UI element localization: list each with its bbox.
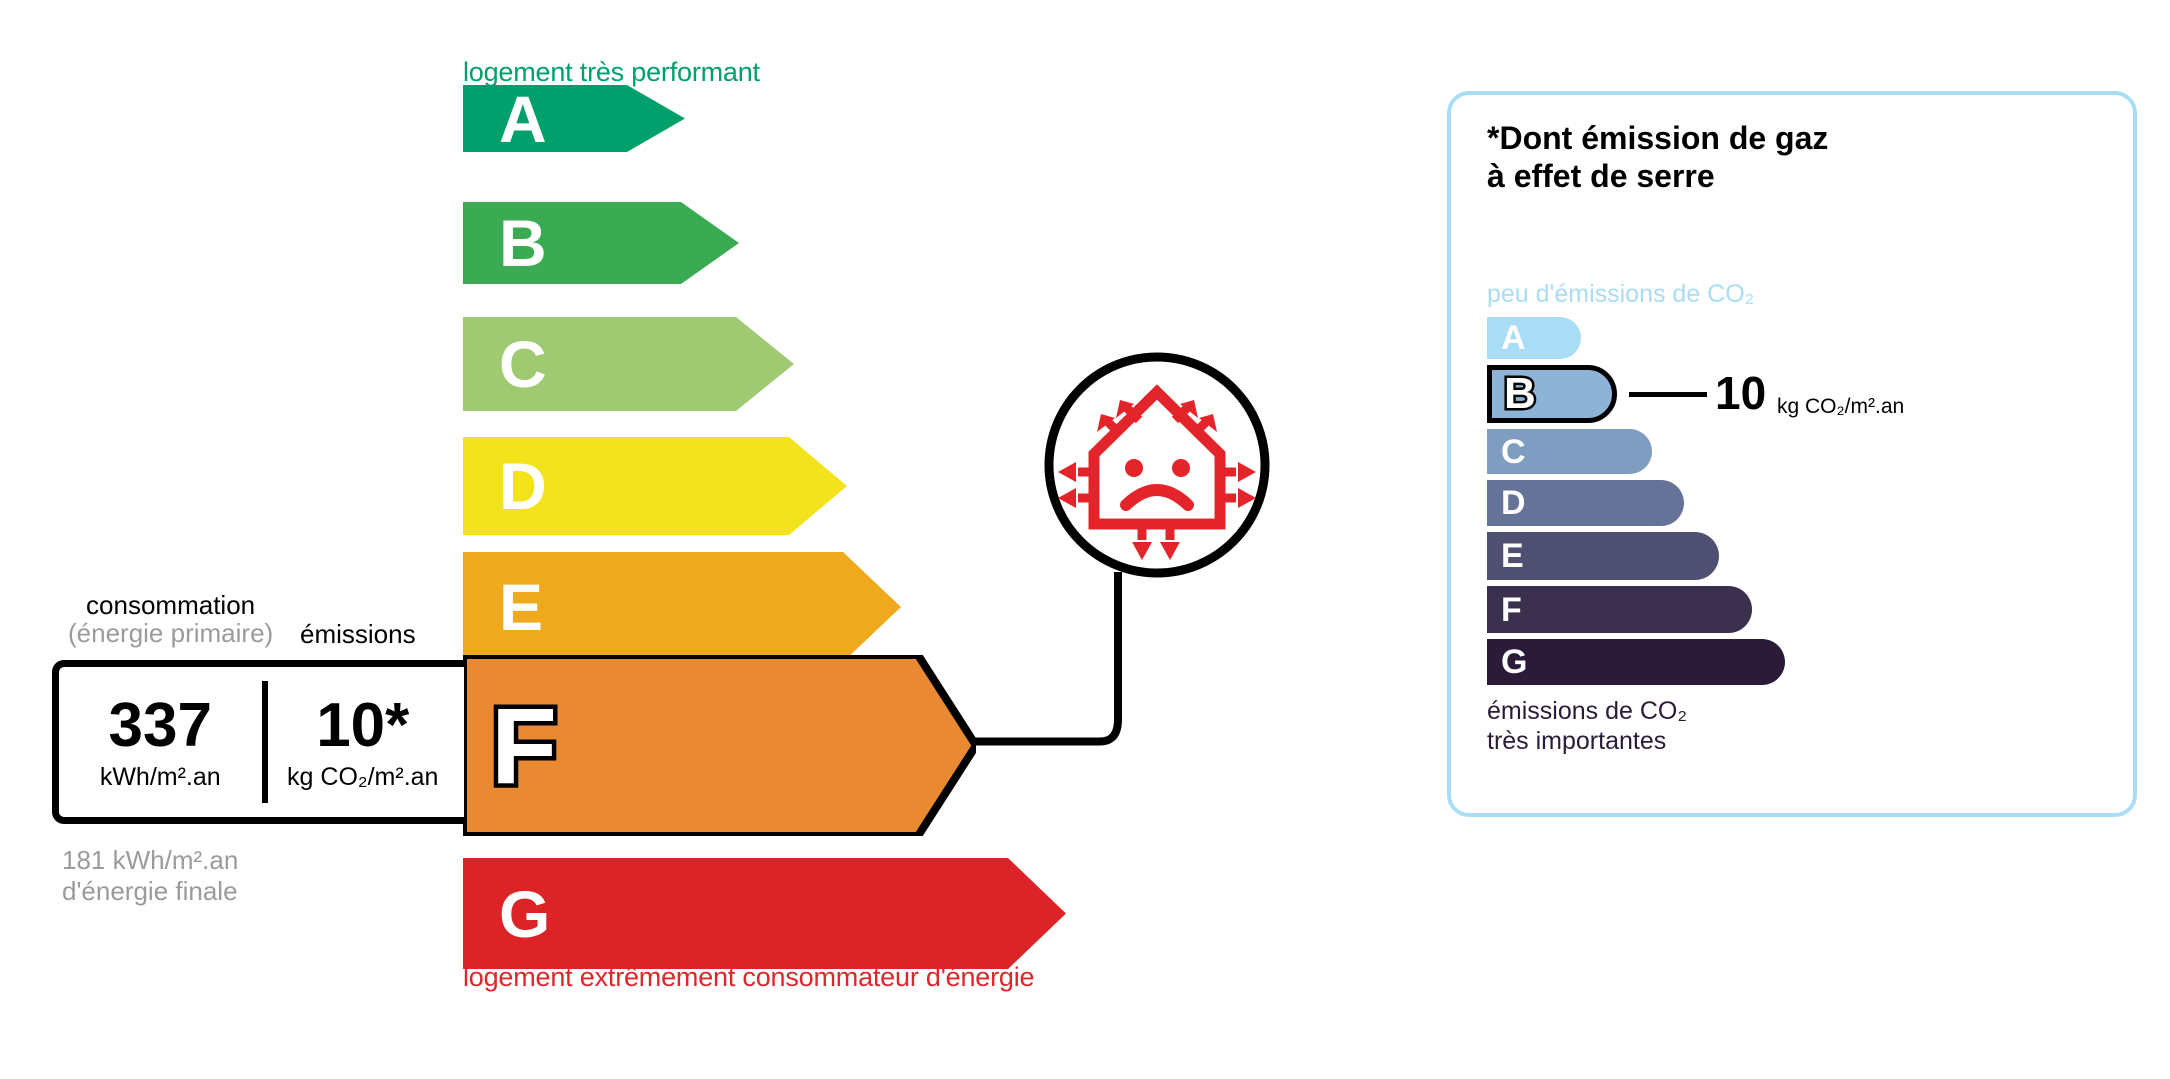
co2-band-row-b-selected[interactable]: B — [1487, 365, 1617, 423]
co2-value: 10 — [1715, 370, 1766, 416]
final-energy-value: 181 kWh/m².an — [62, 845, 238, 875]
energy-band-e-shape — [463, 552, 901, 662]
co2-band-row-d[interactable]: D — [1487, 480, 1684, 526]
co2-bottom-caption-line1: émissions de CO₂ — [1487, 697, 1687, 725]
consumption-value-cell: 337 kWh/m².an — [59, 667, 262, 817]
co2-title-line2: à effet de serre — [1487, 158, 1715, 194]
energy-band-row-f-selected[interactable]: F — [463, 655, 976, 836]
consumption-header-group: consommation (énergie primaire) — [68, 591, 273, 647]
energy-band-b-shape — [463, 202, 739, 284]
co2-value-unit: kg CO₂/m².an — [1777, 396, 1904, 417]
energy-band-row-a[interactable]: A — [463, 85, 685, 152]
consumption-header: consommation — [86, 590, 255, 620]
co2-value-connector-line — [1629, 392, 1707, 397]
co2-band-f-shape: F — [1487, 586, 1752, 633]
co2-band-row-g[interactable]: G — [1487, 639, 1785, 685]
emissions-unit: kg CO₂/m².an — [287, 765, 438, 790]
co2-band-d-letter: D — [1501, 486, 1526, 520]
consumption-unit: kWh/m².an — [100, 765, 221, 790]
consumption-value: 337 — [109, 695, 212, 757]
co2-band-row-a[interactable]: A — [1487, 317, 1581, 359]
emissions-value: 10* — [316, 695, 409, 757]
co2-band-a-shape: A — [1487, 317, 1581, 359]
co2-band-b-letter: B — [1504, 372, 1536, 416]
co2-band-g-shape: G — [1487, 639, 1785, 685]
co2-title-line1: *Dont émission de gaz — [1487, 120, 1828, 156]
co2-band-f-letter: F — [1501, 593, 1522, 627]
emissions-value-cell: 10* kg CO₂/m².an — [262, 667, 465, 817]
co2-band-row-e[interactable]: E — [1487, 532, 1719, 580]
energy-band-row-b[interactable]: B — [463, 202, 739, 284]
co2-bottom-caption: émissions de CO₂ très importantes — [1487, 697, 1687, 756]
co2-band-c-letter: C — [1501, 435, 1526, 469]
badge-connector-line — [972, 572, 1162, 746]
co2-band-d-shape: D — [1487, 480, 1684, 526]
co2-panel: *Dont émission de gaz à effet de serre p… — [1447, 91, 2137, 817]
co2-band-a-letter: A — [1501, 321, 1526, 355]
final-energy-label: d'énergie finale — [62, 876, 238, 906]
co2-band-row-f[interactable]: F — [1487, 586, 1752, 633]
co2-band-g-letter: G — [1501, 645, 1527, 679]
co2-band-b-shape: B — [1487, 365, 1617, 423]
co2-band-c-shape: C — [1487, 429, 1652, 474]
co2-band-e-shape: E — [1487, 532, 1719, 580]
energy-scale: logement très performant A B C D E F G l… — [0, 0, 1300, 1079]
energy-band-d-shape — [463, 437, 847, 535]
energy-band-row-d[interactable]: D — [463, 437, 847, 535]
co2-top-caption: peu d'émissions de CO₂ — [1487, 280, 1754, 309]
energy-band-row-g[interactable]: G — [463, 858, 1066, 969]
co2-band-e-letter: E — [1501, 539, 1524, 573]
energy-band-f-letter: F — [491, 692, 557, 800]
energy-band-c-shape — [463, 317, 794, 411]
energy-band-a-shape — [463, 85, 685, 152]
energy-band-g-shape — [463, 858, 1066, 969]
energy-scale-bottom-caption: logement extrêmement consommateur d'éner… — [463, 962, 1034, 993]
co2-panel-title: *Dont émission de gaz à effet de serre — [1487, 119, 1828, 196]
energy-band-row-e[interactable]: E — [463, 552, 901, 662]
co2-bottom-caption-line2: très importantes — [1487, 727, 1666, 755]
emissions-header: émissions — [300, 620, 416, 648]
energy-band-row-c[interactable]: C — [463, 317, 794, 411]
consumption-subheader: (énergie primaire) — [68, 619, 273, 647]
sad-house-energy-loss-icon — [1042, 350, 1272, 580]
final-energy-note: 181 kWh/m².an d'énergie finale — [62, 845, 238, 906]
value-box: 337 kWh/m².an 10* kg CO₂/m².an — [52, 660, 464, 824]
co2-band-row-c[interactable]: C — [1487, 429, 1652, 474]
energy-scale-top-caption: logement très performant — [463, 57, 760, 88]
